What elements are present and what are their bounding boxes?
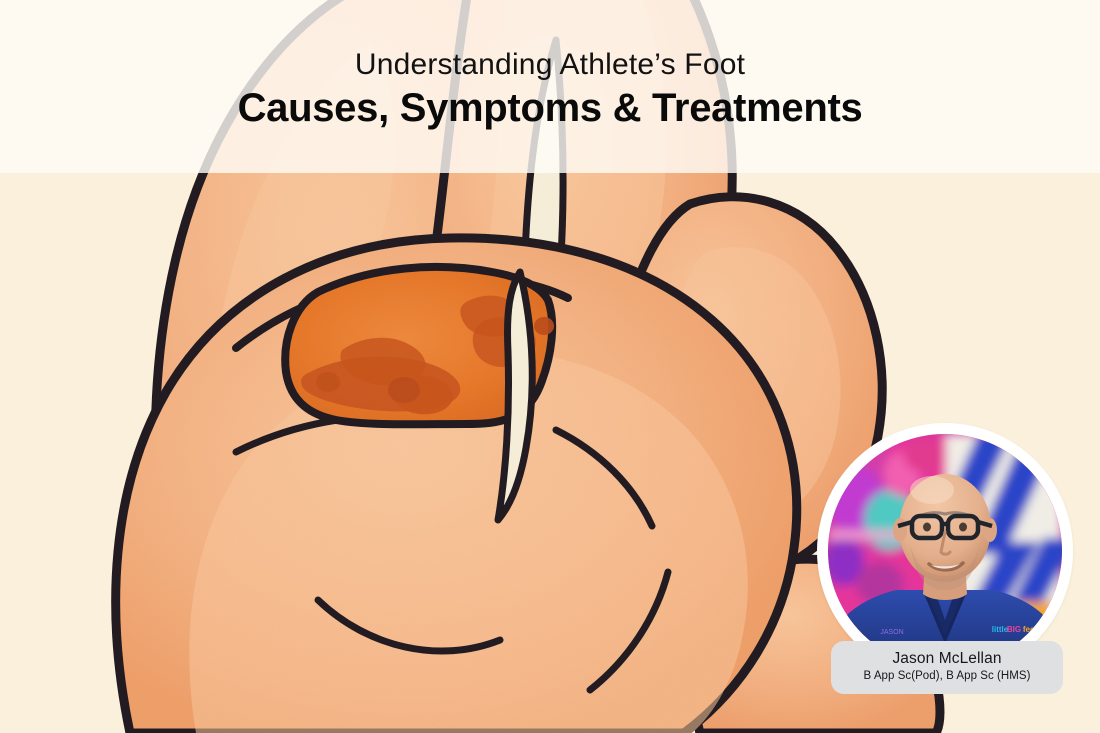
practitioner-name: Jason McLellan bbox=[841, 649, 1053, 668]
practitioner-namecard: Jason McLellan B App Sc(Pod), B App Sc (… bbox=[831, 641, 1063, 694]
practitioner-portrait: little BIG feet JASON bbox=[828, 434, 1062, 668]
svg-text:BIG: BIG bbox=[1007, 625, 1021, 634]
practitioner-credentials: B App Sc(Pod), B App Sc (HMS) bbox=[841, 669, 1053, 684]
practitioner-card[interactable]: little BIG feet JASON bbox=[817, 423, 1077, 683]
poster-canvas: Understanding Athlete’s Foot Causes, Sym… bbox=[0, 0, 1100, 733]
svg-text:JASON: JASON bbox=[880, 629, 903, 636]
title-banner: Understanding Athlete’s Foot Causes, Sym… bbox=[0, 0, 1100, 173]
banner-subtitle: Understanding Athlete’s Foot bbox=[355, 49, 745, 81]
banner-title: Causes, Symptoms & Treatments bbox=[238, 85, 863, 132]
